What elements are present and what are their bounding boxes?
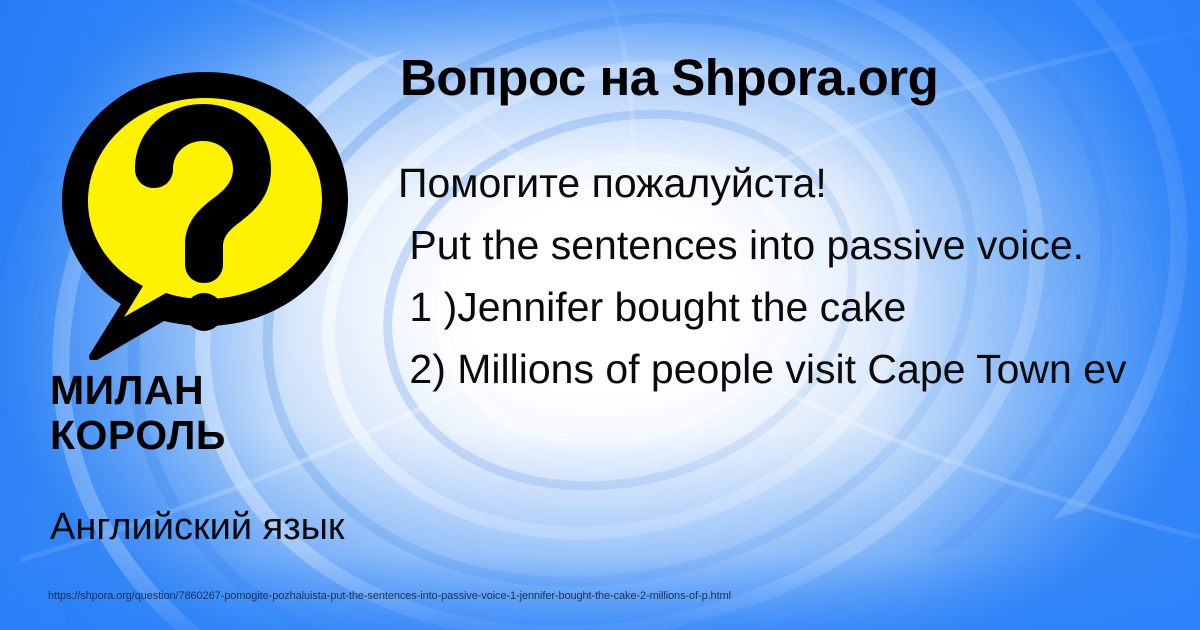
shpora-question-card: Вопрос на Shpora.org Помогите пожалуйста… (0, 0, 1200, 630)
question-speech-bubble-icon (52, 68, 358, 360)
source-url: https://shpora.org/question/7860267-pomo… (48, 590, 731, 602)
page-title: Вопрос на Shpora.org (400, 48, 938, 107)
subject-label: Английский язык (50, 505, 345, 549)
author-name: МИЛАН КОРОЛЬ (50, 368, 380, 458)
question-body-text: Помогите пожалуйста! Put the sentences i… (398, 152, 1158, 400)
